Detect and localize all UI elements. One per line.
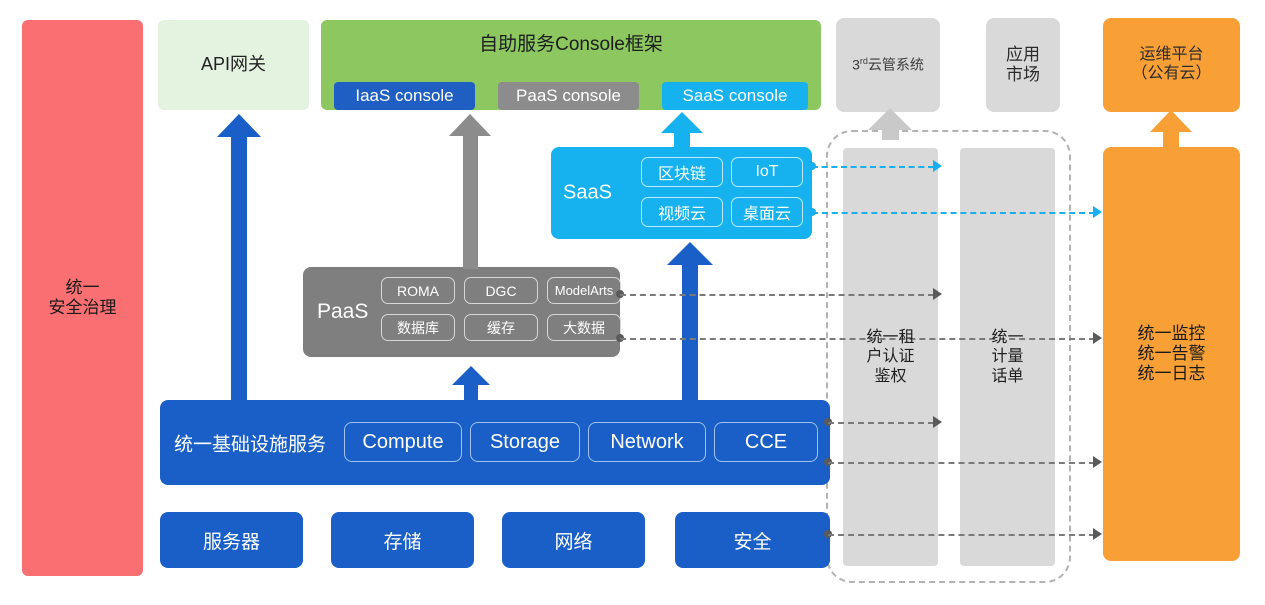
- third-party-cloud-management-box: 3rd云管系统: [836, 18, 940, 112]
- arrowhead-infra-to-ops: [1093, 456, 1102, 468]
- paas-item-dgc-label: DGC: [485, 283, 516, 299]
- hardware-security-label: 安全: [733, 527, 771, 554]
- third-party-cloud-management-label: 3rd云管系统: [852, 56, 924, 73]
- saas-box: SaaS 区块链 IoT 视频云 桌面云: [551, 147, 812, 239]
- iaas-console-label: IaaS console: [355, 86, 453, 106]
- hardware-network-label: 网络: [554, 527, 592, 554]
- arrow-ops-panel-to-ops-top: [1150, 110, 1192, 147]
- paas-console-chip[interactable]: PaaS console: [498, 82, 639, 110]
- paas-item-modelarts[interactable]: ModelArts: [547, 277, 621, 304]
- saas-title: SaaS: [563, 182, 612, 205]
- paas-item-dgc[interactable]: DGC: [464, 277, 538, 304]
- infra-item-cce[interactable]: CCE: [714, 422, 818, 462]
- arrow-infra-to-paas: [452, 366, 490, 401]
- unified-tenant-auth-label: 统一租 户认证 鉴权: [866, 328, 914, 387]
- saas-item-video-cloud-label: 视频云: [658, 200, 706, 224]
- app-market-label: 应用 市场: [1006, 45, 1040, 85]
- arrowhead-saas-to-auth: [933, 160, 942, 172]
- paas-item-database[interactable]: 数据库: [381, 314, 455, 341]
- connector-infra-to-ops: [828, 462, 1095, 464]
- arrow-infra-to-saas: [667, 242, 713, 401]
- connector-saas-to-ops: [812, 212, 1095, 214]
- unified-metering-billing-bar: 统一 计量 话单: [960, 148, 1055, 566]
- arrowhead-paas-to-auth: [933, 288, 942, 300]
- unified-metering-billing-label: 统一 计量 话单: [991, 328, 1023, 387]
- arrow-saas-to-saas-console: [661, 112, 703, 150]
- console-framework-box: 自助服务Console框架 IaaS console PaaS console …: [321, 20, 821, 110]
- infra-item-network[interactable]: Network: [588, 422, 706, 462]
- infra-item-storage[interactable]: Storage: [470, 422, 580, 462]
- paas-item-bigdata-label: 大数据: [563, 318, 605, 338]
- hardware-network-box: 网络: [502, 512, 645, 568]
- saas-item-video-cloud[interactable]: 视频云: [641, 197, 723, 227]
- saas-item-desktop-cloud[interactable]: 桌面云: [731, 197, 803, 227]
- paas-item-roma[interactable]: ROMA: [381, 277, 455, 304]
- api-gateway-box: API网关: [158, 20, 309, 110]
- arrow-infra-to-api-gateway: [217, 114, 261, 401]
- hardware-storage-box: 存储: [331, 512, 474, 568]
- saas-item-blockchain-label: 区块链: [658, 160, 706, 184]
- paas-item-bigdata[interactable]: 大数据: [547, 314, 621, 341]
- app-market-box: 应用 市场: [986, 18, 1060, 112]
- architecture-diagram: 统一 安全治理 API网关 自助服务Console框架 IaaS console…: [0, 0, 1265, 605]
- connector-hardware-to-ops: [828, 534, 1095, 536]
- ops-platform-top-box: 运维平台 （公有云）: [1103, 18, 1240, 112]
- hardware-storage-label: 存储: [383, 527, 421, 554]
- hardware-server-label: 服务器: [203, 527, 260, 554]
- api-gateway-label: API网关: [201, 54, 266, 75]
- connector-saas-to-auth: [812, 166, 934, 168]
- security-governance-panel: 统一 安全治理: [22, 20, 143, 576]
- paas-item-cache-label: 缓存: [487, 318, 515, 338]
- paas-console-label: PaaS console: [516, 86, 621, 106]
- paas-item-modelarts-label: ModelArts: [555, 283, 614, 298]
- unified-infrastructure-title: 统一基础设施服务: [174, 429, 326, 456]
- security-governance-label: 统一 安全治理: [49, 278, 117, 318]
- saas-console-label: SaaS console: [683, 86, 788, 106]
- arrowhead-infra-to-auth: [933, 416, 942, 428]
- paas-title: PaaS: [317, 300, 368, 324]
- infra-item-network-label: Network: [610, 431, 683, 454]
- paas-box: PaaS ROMA DGC ModelArts 数据库 缓存 大数据: [303, 267, 620, 357]
- infra-item-compute-label: Compute: [362, 431, 443, 454]
- connector-paas-to-auth: [620, 294, 934, 296]
- ops-platform-panel-label: 统一监控 统一告警 统一日志: [1138, 324, 1206, 384]
- infra-item-storage-label: Storage: [490, 431, 560, 454]
- arrowhead-saas-to-ops: [1093, 206, 1102, 218]
- hardware-security-box: 安全: [675, 512, 830, 568]
- arrow-paas-to-paas-console: [449, 114, 491, 269]
- unified-infrastructure-bar: 统一基础设施服务 Compute Storage Network CCE: [160, 400, 830, 485]
- saas-console-chip[interactable]: SaaS console: [662, 82, 808, 110]
- saas-item-iot[interactable]: IoT: [731, 157, 803, 187]
- unified-tenant-auth-bar: 统一租 户认证 鉴权: [843, 148, 938, 566]
- infra-item-compute[interactable]: Compute: [344, 422, 462, 462]
- hardware-server-box: 服务器: [160, 512, 303, 568]
- console-framework-title: 自助服务Console框架: [321, 29, 821, 56]
- iaas-console-chip[interactable]: IaaS console: [334, 82, 475, 110]
- connector-infra-to-auth: [828, 422, 934, 424]
- arrowhead-hardware-to-ops: [1093, 528, 1102, 540]
- paas-item-roma-label: ROMA: [397, 283, 439, 299]
- ops-platform-top-label: 运维平台 （公有云）: [1131, 46, 1211, 84]
- infra-item-cce-label: CCE: [745, 431, 787, 454]
- saas-item-desktop-cloud-label: 桌面云: [743, 200, 791, 224]
- saas-item-iot-label: IoT: [755, 163, 778, 181]
- paas-item-cache[interactable]: 缓存: [464, 314, 538, 341]
- ops-platform-panel: 统一监控 统一告警 统一日志: [1103, 147, 1240, 561]
- saas-item-blockchain[interactable]: 区块链: [641, 157, 723, 187]
- paas-item-database-label: 数据库: [397, 318, 439, 338]
- arrowhead-paas-to-ops: [1093, 332, 1102, 344]
